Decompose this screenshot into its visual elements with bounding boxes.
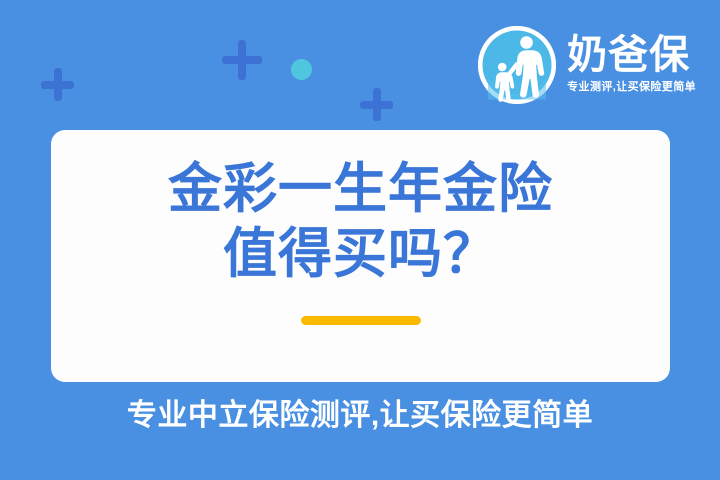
poster-canvas: 奶爸保 专业测评,让买保险更简单 金彩一生年金险 值得买吗？ 专业中立保险测评,… xyxy=(0,0,720,480)
plus-icon-left xyxy=(41,68,74,101)
brand-wordmark: 奶爸保 专业测评,让买保险更简单 xyxy=(567,34,696,96)
brand-logo: 奶爸保 专业测评,让买保险更简单 xyxy=(478,26,696,104)
parent-and-child-circle-icon xyxy=(478,26,556,104)
dot-icon xyxy=(291,59,312,80)
plus-icon-center xyxy=(222,40,262,80)
footer-slogan: 专业中立保险测评,让买保险更简单 xyxy=(0,398,720,434)
brand-name: 奶爸保 xyxy=(567,34,696,76)
headline-card: 金彩一生年金险 值得买吗？ xyxy=(51,130,670,382)
accent-divider-bar xyxy=(301,316,421,325)
brand-tagline: 专业测评,让买保险更简单 xyxy=(567,80,696,94)
plus-icon-right xyxy=(360,88,393,121)
headline-line-1: 金彩一生年金险 xyxy=(168,158,553,221)
headline-line-2: 值得买吗？ xyxy=(223,223,498,286)
